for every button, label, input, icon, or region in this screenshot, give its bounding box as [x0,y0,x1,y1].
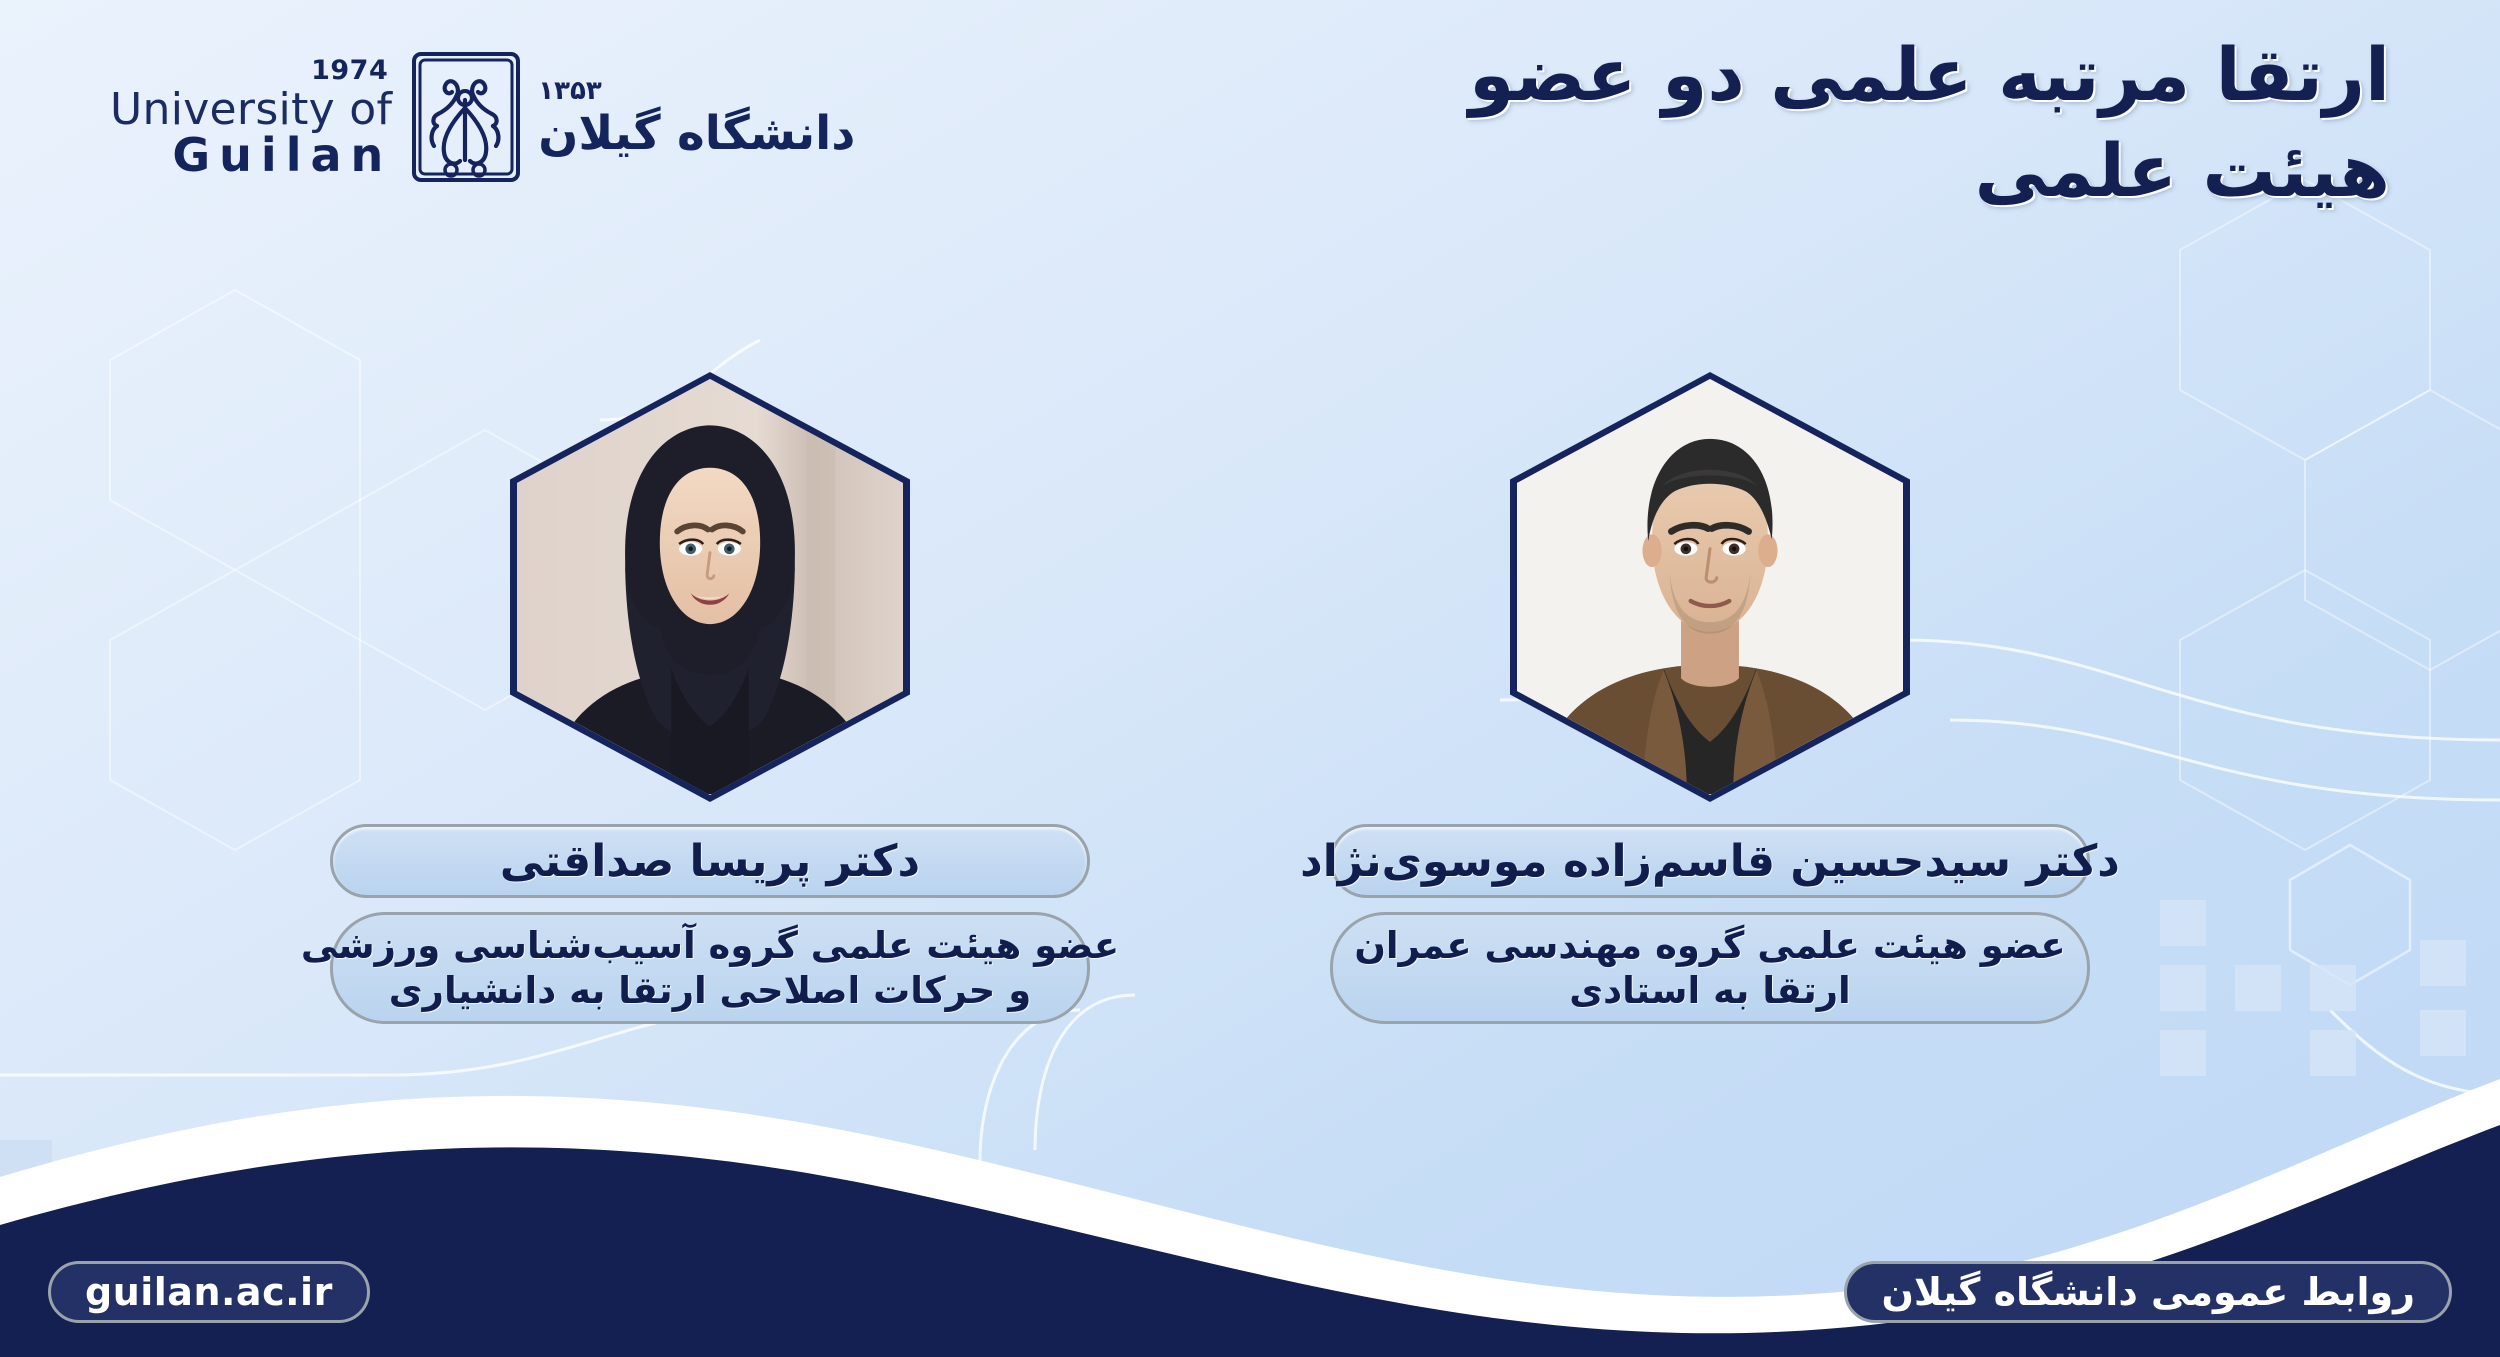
logo-name-fa: دانشگاه گیلان [538,110,855,157]
logo-persian-block: ۱۳۵۳ دانشگاه گیلان [538,78,855,157]
hex-outline-group-right [2180,180,2500,850]
hex-deco-small [2290,845,2410,985]
guilan-university-emblem-icon [406,48,524,186]
person-role-badge: عضو هیئت علمی گروه مهندسی عمران ارتقا به… [1330,912,2090,1024]
avatar-hexagon-frame [510,372,910,802]
page-title-line-1: ارتقا مرتبه علمی دو عضو [910,28,2390,124]
person-name-badge: دکتر سیدحسین قاسم‌زاده موسوی‌نژاد [1330,824,2090,898]
portrait-seyed-hossein-ghasemzadeh-mousavinejad [1517,379,1903,794]
person-role-line-2: ارتقا به استادی [1569,968,1850,1013]
website-badge[interactable]: guilan.ac.ir [48,1261,370,1323]
person-role-line-1: عضو هیئت علمی گروه آسیب‌شناسی ورزشی [301,923,1119,968]
logo-university-of: University of [110,88,392,132]
poster-canvas: 1974 University of Guilan [0,0,2500,1357]
portrait-parisa-sedaghati [517,379,903,794]
publisher-badge: روابط عمومی دانشگاه گیلان [1844,1261,2452,1323]
person-name: دکتر پریسا صداقتی [500,836,920,887]
avatar [517,379,903,795]
website-url: guilan.ac.ir [85,1270,333,1314]
page-title-line-2: هیئت علمی [910,124,2390,220]
avatar [1517,379,1903,795]
logo-guilan: Guilan [110,132,392,178]
publisher-name: روابط عمومی دانشگاه گیلان [1881,1270,2415,1314]
logo-english-block: 1974 University of Guilan [110,57,392,178]
person-name: دکتر سیدحسین قاسم‌زاده موسوی‌نژاد [1300,836,2120,887]
person-role-badge: عضو هیئت علمی گروه آسیب‌شناسی ورزشی و حر… [330,912,1090,1024]
avatar-hexagon-frame [1510,372,1910,802]
person-role-line-1: عضو هیئت علمی گروه مهندسی عمران [1354,923,2065,968]
person-card-parisa-sedaghati: دکتر پریسا صداقتی عضو هیئت علمی گروه آسی… [330,372,1090,1024]
logo-year-fa: ۱۳۵۳ [538,78,855,104]
person-name-badge: دکتر پریسا صداقتی [330,824,1090,898]
logo-year-en: 1974 [110,57,388,84]
university-logo: 1974 University of Guilan [110,48,855,186]
person-role-line-2: و حرکات اصلاحی ارتقا به دانشیاری [389,968,1031,1013]
page-title: ارتقا مرتبه علمی دو عضو هیئت علمی [910,28,2390,221]
person-card-ghasemzadeh-mousavinejad: دکتر سیدحسین قاسم‌زاده موسوی‌نژاد عضو هی… [1330,372,2090,1024]
